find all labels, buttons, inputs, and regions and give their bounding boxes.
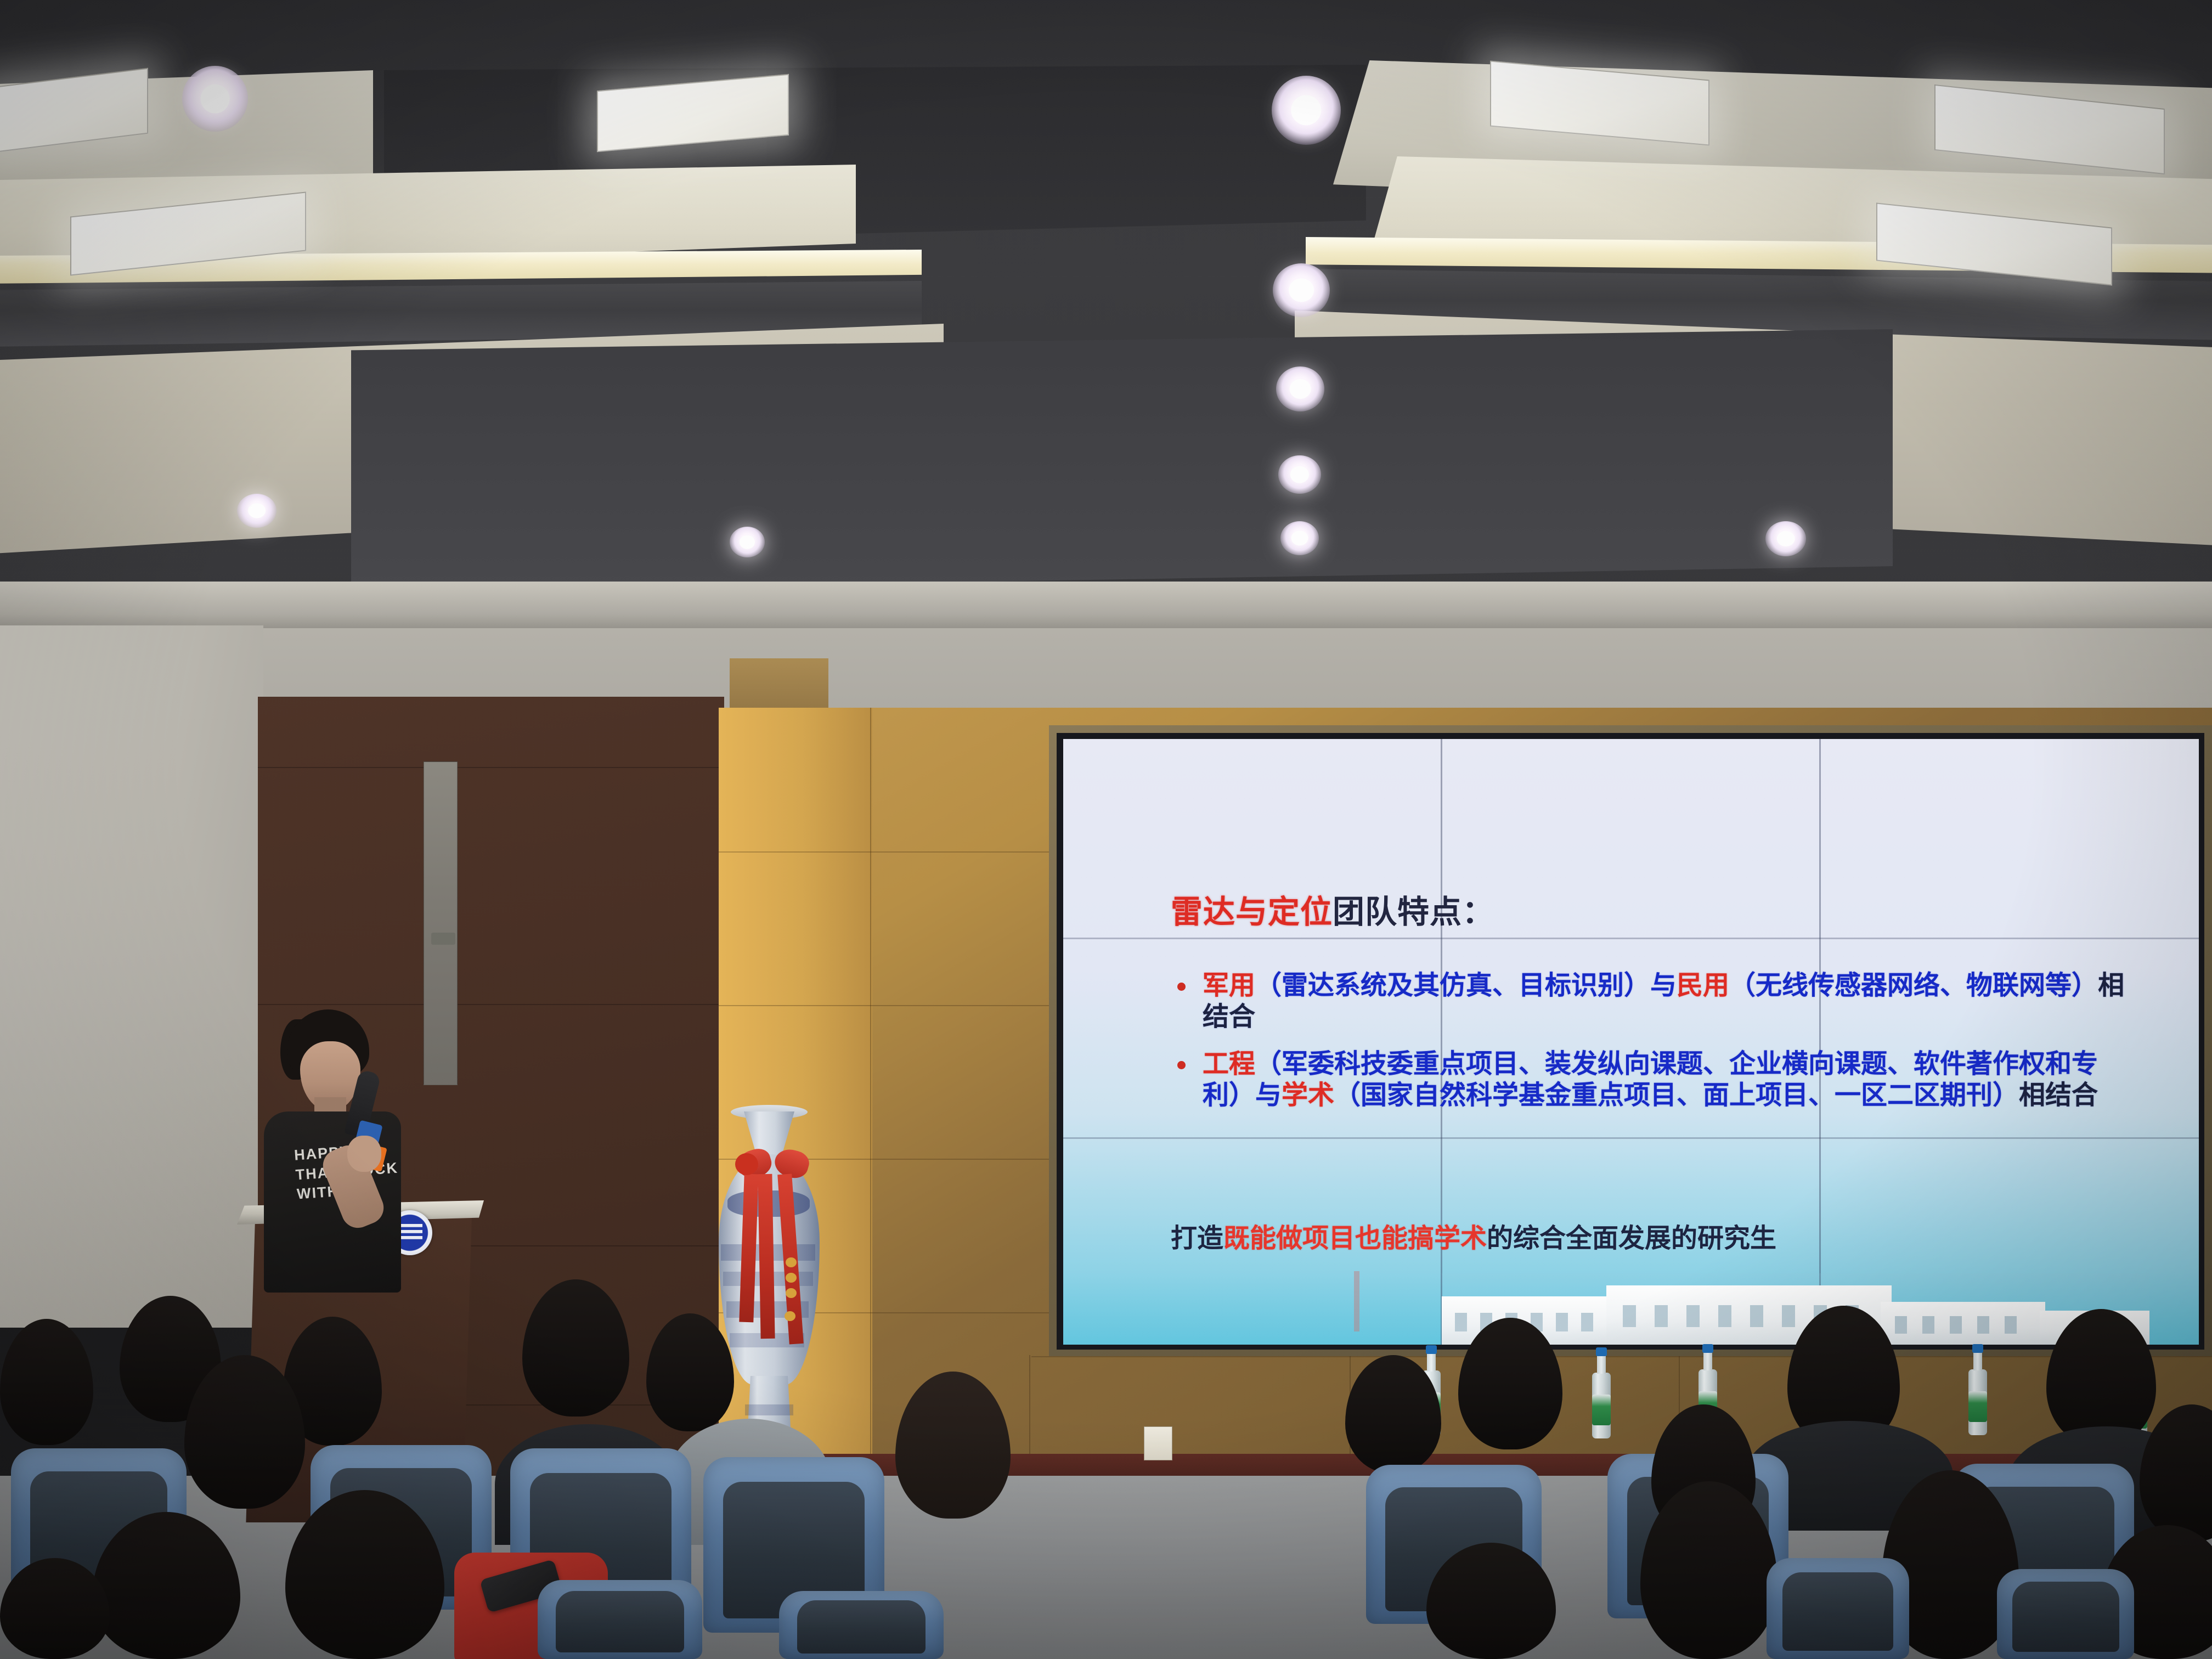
bullet-2-seg-0: 工程: [1203, 1049, 1255, 1079]
slide-bullet-list: 军用（雷达系统及其仿真、目标识别）与民用（无线传感器网络、物联网等）相结合 工程…: [1160, 970, 2136, 1128]
bullet-2-seg-3: （国家自然科学基金重点项目、面上项目、一区二区期刊）: [1334, 1081, 2019, 1110]
ceiling-downlight-5: [1278, 455, 1321, 494]
bullet-1-seg-0: 军用: [1203, 971, 1255, 1000]
bullet-1-seg-2: 民用: [1677, 971, 1729, 1000]
presenter: HAPPY THAN A OCK WITH: [250, 1009, 414, 1295]
ceiling-downlight-6: [1280, 521, 1319, 555]
side-wall-left: [0, 625, 263, 1328]
wall-seam-h-1: [719, 851, 1059, 853]
ribbon-bead-2: [786, 1273, 797, 1283]
slide-title-rest: 团队特点：: [1333, 894, 1494, 930]
wall-seam-h-2: [719, 1005, 1059, 1006]
lecture-hall-photo: 雷达与定位团队特点： 军用（雷达系统及其仿真、目标识别）与民用（无线传感器网络、…: [0, 0, 2212, 1659]
ribbon-bead-4: [785, 1311, 795, 1321]
wall-seam-v-2: [1029, 1355, 1030, 1455]
flagpole-icon: [1354, 1271, 1359, 1331]
bullet-2-seg-4: 相结合: [2019, 1081, 2098, 1110]
bullet-2-seg-2: 学术: [1282, 1081, 1334, 1110]
videowall-seam-h-1: [1063, 938, 2199, 939]
wall-seam-v-1: [870, 708, 871, 1454]
audience-chair[interactable]: [538, 1580, 702, 1659]
ceiling-downlight-7: [1765, 521, 1806, 556]
ribbon-knot: [735, 1153, 758, 1175]
ribbon-tail-mid: [758, 1174, 775, 1339]
bullet-dot-icon: [1177, 1061, 1186, 1069]
ceiling-downlight-9: [730, 527, 765, 557]
presentation-screen[interactable]: 雷达与定位团队特点： 军用（雷达系统及其仿真、目标识别）与民用（无线传感器网络、…: [1063, 739, 2199, 1345]
ceiling-downlight-3: [1273, 263, 1330, 317]
bullet-2-text: 工程（军委科技委重点项目、装发纵向课题、企业横向课题、软件著作权和专利）与学术（…: [1203, 1049, 2136, 1111]
ceiling-downlight-4: [1276, 366, 1324, 411]
ceiling-downlight-2: [1272, 76, 1341, 145]
bullet-dot-icon: [1177, 983, 1186, 991]
slide-bullet-item-2: 工程（军委科技委重点项目、装发纵向课题、企业横向课题、软件著作权和专利）与学术（…: [1160, 1049, 2136, 1111]
bullet-1-seg-3: （无线传感器网络、物联网等）: [1729, 971, 2098, 1000]
door-glass-strip: [424, 761, 458, 1085]
bullet-1-text: 军用（雷达系统及其仿真、目标识别）与民用（无线传感器网络、物联网等）相结合: [1203, 970, 2136, 1032]
ribbon-bead-1: [786, 1257, 797, 1267]
slide-title: 雷达与定位团队特点：: [1171, 886, 1494, 932]
slide-bullet-item-1: 军用（雷达系统及其仿真、目标识别）与民用（无线传感器网络、物联网等）相结合: [1160, 970, 2136, 1032]
ceiling-downlight-8: [237, 494, 276, 528]
presenter-hand: [347, 1136, 381, 1172]
slide-title-highlight: 雷达与定位: [1171, 894, 1333, 930]
slide-footer-pre: 打造: [1171, 1224, 1223, 1253]
ceiling-downlight-1: [182, 66, 248, 132]
wall-power-outlet-icon[interactable]: [1144, 1426, 1172, 1460]
audience-chair[interactable]: [1997, 1569, 2134, 1659]
ceiling-center-dark: [351, 329, 1893, 592]
audience-chair[interactable]: [779, 1591, 944, 1659]
slide-footer-post: 的综合全面发展的研究生: [1487, 1224, 1776, 1253]
ribbon-bead-3: [786, 1288, 797, 1298]
bullet-1-seg-1: （雷达系统及其仿真、目标识别）与: [1255, 971, 1677, 1000]
videowall-seam-h-2: [1063, 1137, 2199, 1139]
slide-footer-text: 打造既能做项目也能搞学术的综合全面发展的研究生: [1171, 1216, 2158, 1255]
door-handle[interactable]: [431, 933, 455, 945]
slide-footer-highlight: 既能做项目也能搞学术: [1223, 1224, 1487, 1253]
wall-crown-molding: [0, 582, 2212, 628]
audience-chair[interactable]: [1767, 1558, 1909, 1659]
